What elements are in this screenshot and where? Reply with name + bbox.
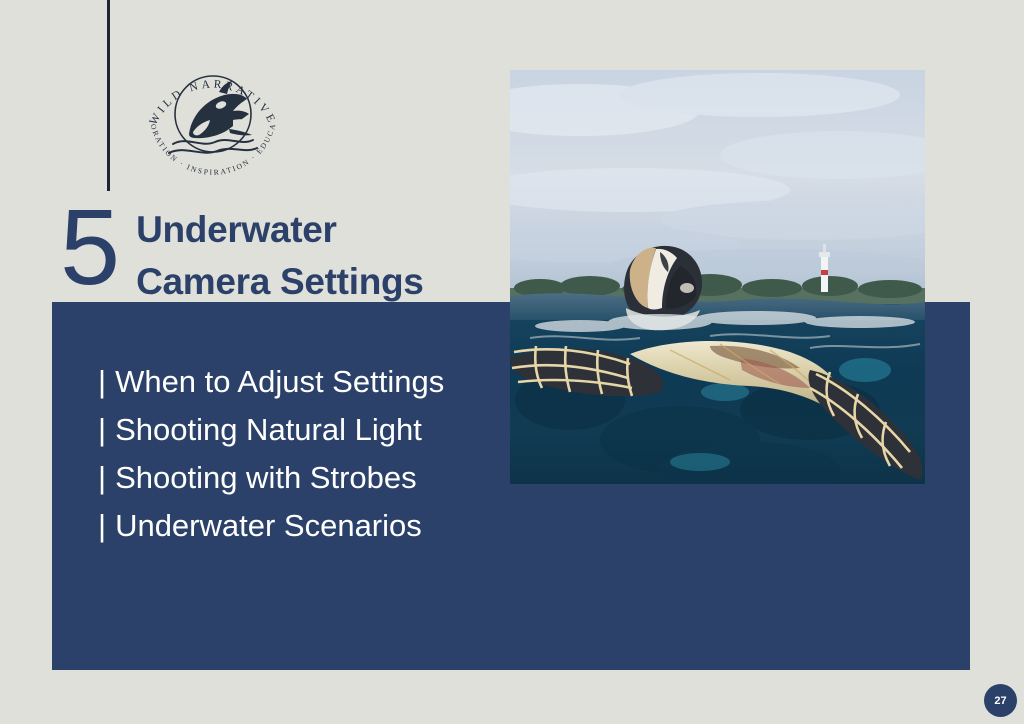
- list-item-label: Underwater Scenarios: [115, 508, 422, 543]
- bullet-marker-icon: |: [98, 502, 106, 550]
- topic-list: |When to Adjust Settings |Shooting Natur…: [98, 358, 444, 550]
- page-number-badge: 27: [984, 684, 1017, 717]
- list-item-label: Shooting with Strobes: [115, 460, 417, 495]
- page-title: Underwater Camera Settings: [136, 193, 424, 308]
- bullet-marker-icon: |: [98, 406, 106, 454]
- list-item-label: When to Adjust Settings: [115, 364, 444, 399]
- list-item-label: Shooting Natural Light: [115, 412, 422, 447]
- bullet-marker-icon: |: [98, 358, 106, 406]
- section-heading: 5 Underwater Camera Settings: [60, 193, 424, 308]
- list-item: |Underwater Scenarios: [98, 502, 444, 550]
- bullet-marker-icon: |: [98, 454, 106, 502]
- wild-narrative-logo: WILD NARRATIVE EXPLORATION · INSPIRATION…: [133, 52, 293, 184]
- section-number: 5: [60, 195, 118, 299]
- list-item: |When to Adjust Settings: [98, 358, 444, 406]
- list-item: |Shooting Natural Light: [98, 406, 444, 454]
- page-title-line-2: Camera Settings: [136, 256, 424, 308]
- slide: WILD NARRATIVE EXPLORATION · INSPIRATION…: [0, 0, 1024, 724]
- list-item: |Shooting with Strobes: [98, 454, 444, 502]
- sea-turtle-photo: [510, 70, 925, 484]
- page-title-line-1: Underwater: [136, 204, 424, 256]
- vertical-rule-divider: [107, 0, 110, 191]
